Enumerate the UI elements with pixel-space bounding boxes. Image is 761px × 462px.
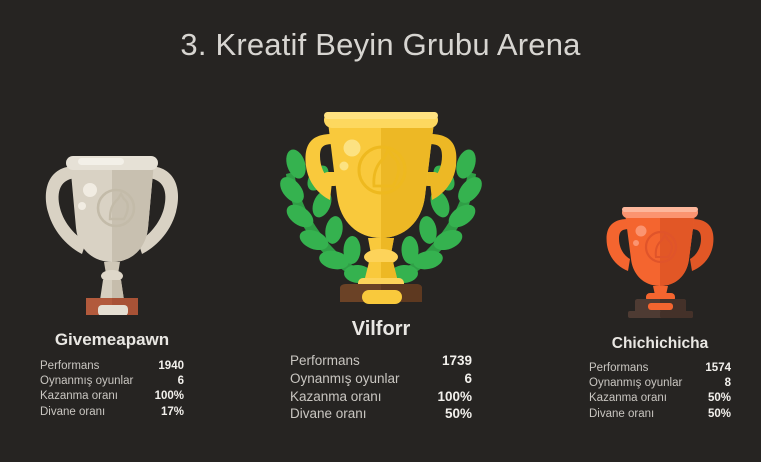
- stat-row-win-rate: Kazanma oranı 50%: [589, 391, 731, 406]
- player-stats-list: Performans 1739 Oynanmış oyunlar 6 Kazan…: [290, 352, 472, 423]
- gold-trophy-icon: [270, 86, 492, 308]
- stat-row-draw-rate: Divane oranı 50%: [290, 405, 472, 423]
- stat-label: Performans: [40, 359, 99, 374]
- podium-column-first-place: Vilforr Performans 1739 Oynanmış oyunlar…: [270, 86, 492, 423]
- stat-value: 1739: [442, 352, 472, 370]
- stat-label: Kazanma oranı: [589, 391, 667, 406]
- player-name: Chichichicha: [560, 335, 760, 353]
- stat-value: 100%: [437, 388, 472, 406]
- stat-value: 50%: [708, 407, 731, 422]
- podium-column-second-place: Givemeapawn Performans 1940 Oynanmış oyu…: [12, 150, 212, 420]
- stat-value: 1574: [705, 361, 731, 376]
- stat-value: 50%: [708, 391, 731, 406]
- stat-label: Kazanma oranı: [40, 389, 118, 404]
- player-stats-list: Performans 1940 Oynanmış oyunlar 6 Kazan…: [40, 359, 184, 420]
- stat-value: 100%: [155, 389, 184, 404]
- stat-row-draw-rate: Divane oranı 17%: [40, 405, 184, 420]
- page-title: 3. Kreatif Beyin Grubu Arena: [0, 27, 761, 63]
- podium-column-third-place: Chichichicha Performans 1574 Oynanmış oy…: [560, 203, 760, 422]
- stat-value: 50%: [445, 405, 472, 423]
- silver-trophy-icon: [32, 150, 192, 315]
- stat-label: Performans: [589, 361, 648, 376]
- stat-label: Divane oranı: [40, 405, 105, 420]
- stat-label: Oynanmış oyunlar: [589, 376, 682, 391]
- stat-row-performance: Performans 1739: [290, 352, 472, 370]
- stat-value: 6: [464, 370, 472, 388]
- stat-value: 6: [178, 374, 184, 389]
- stat-label: Oynanmış oyunlar: [40, 374, 133, 389]
- player-name: Givemeapawn: [12, 330, 212, 350]
- player-stats-list: Performans 1574 Oynanmış oyunlar 8 Kazan…: [589, 361, 731, 422]
- stat-label: Divane oranı: [290, 405, 367, 423]
- silver-trophy-wrap: [12, 150, 212, 315]
- bronze-trophy-icon: [595, 203, 725, 323]
- stat-label: Performans: [290, 352, 360, 370]
- stat-value: 8: [725, 376, 731, 391]
- stat-row-win-rate: Kazanma oranı 100%: [290, 388, 472, 406]
- stat-value: 17%: [161, 405, 184, 420]
- player-name: Vilforr: [270, 318, 492, 341]
- gold-trophy-wrap: [270, 86, 492, 308]
- stat-value: 1940: [158, 359, 184, 374]
- stat-label: Oynanmış oyunlar: [290, 370, 400, 388]
- stat-row-games-played: Oynanmış oyunlar 6: [40, 374, 184, 389]
- stat-label: Kazanma oranı: [290, 388, 382, 406]
- bronze-trophy-wrap: [560, 203, 760, 323]
- stat-label: Divane oranı: [589, 407, 654, 422]
- stat-row-performance: Performans 1940: [40, 359, 184, 374]
- stat-row-performance: Performans 1574: [589, 361, 731, 376]
- stat-row-games-played: Oynanmış oyunlar 6: [290, 370, 472, 388]
- stat-row-draw-rate: Divane oranı 50%: [589, 407, 731, 422]
- stat-row-win-rate: Kazanma oranı 100%: [40, 389, 184, 404]
- leaderboard-podium-screen: 3. Kreatif Beyin Grubu Arena: [0, 0, 761, 462]
- stat-row-games-played: Oynanmış oyunlar 8: [589, 376, 731, 391]
